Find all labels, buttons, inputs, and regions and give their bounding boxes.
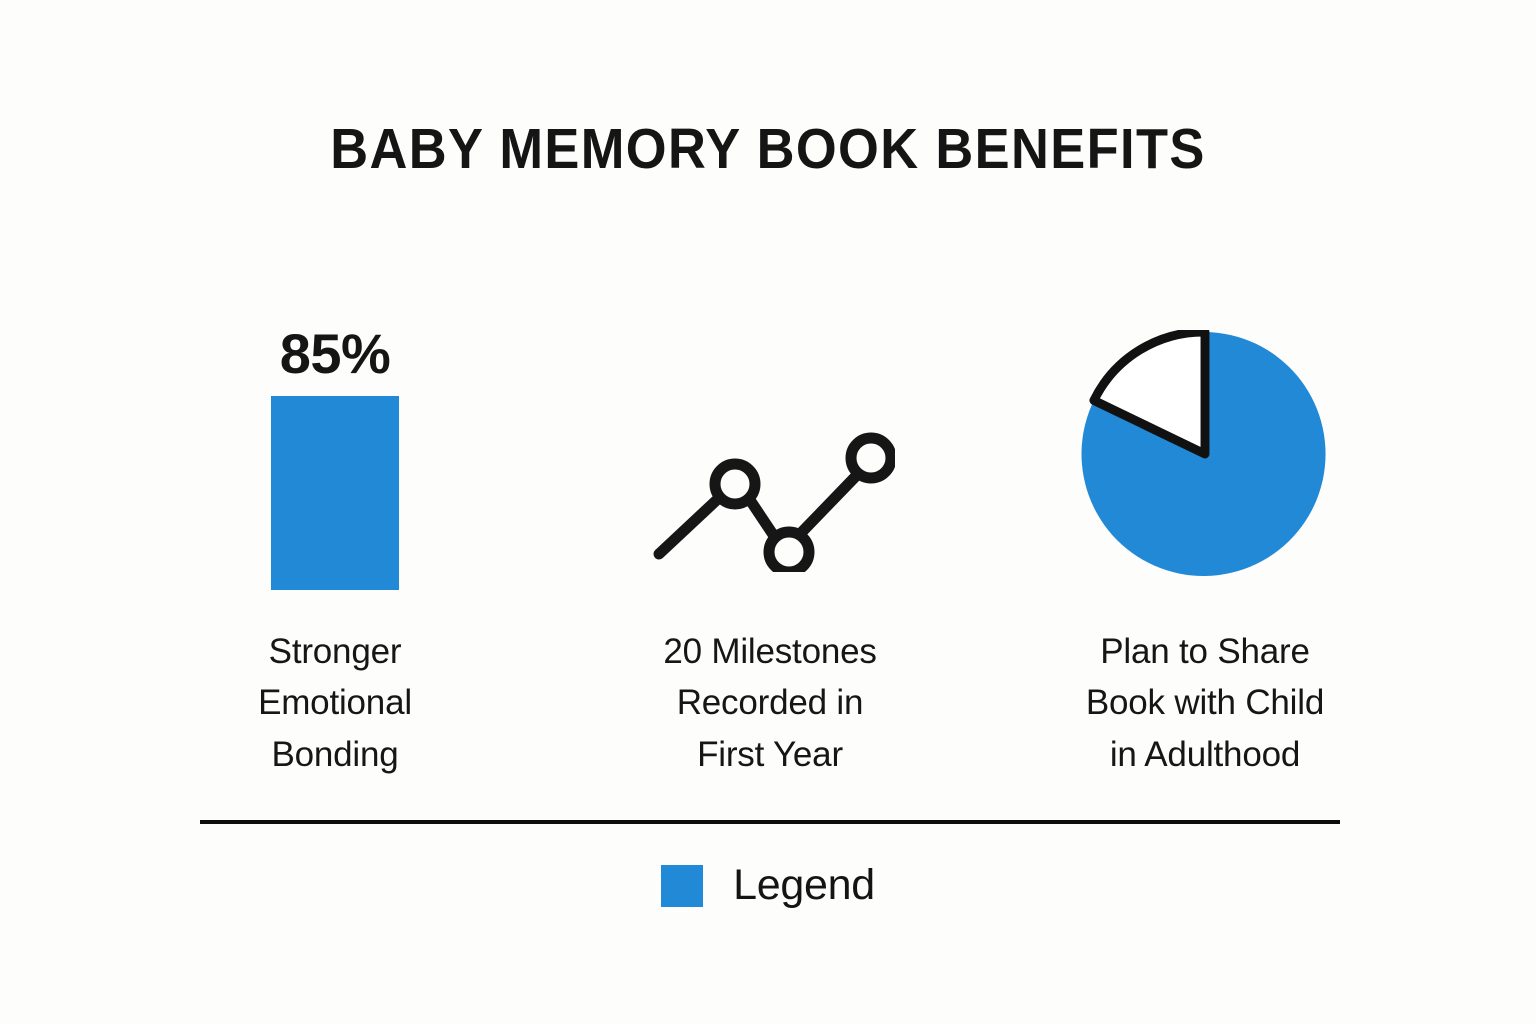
stat-caption-milestones: 20 Milestones Recorded in First Year (663, 626, 876, 780)
bar-chart-icon (271, 396, 399, 590)
stat-caption-share: Plan to Share Book with Child in Adultho… (1086, 626, 1324, 780)
caption-line: 20 Milestones (663, 626, 876, 677)
line-marker-point (715, 464, 755, 504)
infographic-canvas: BABY MEMORY BOOK BENEFITS 85% Stronger E… (0, 0, 1536, 1024)
caption-line: in Adulthood (1086, 729, 1324, 780)
stat-column-share: Plan to Share Book with Child in Adultho… (1020, 290, 1390, 780)
legend-label: Legend (733, 864, 875, 907)
caption-line: Bonding (258, 729, 412, 780)
bar-value-label: 85% (280, 326, 391, 382)
bar-chart-graphic: 85% (150, 290, 520, 590)
caption-line: First Year (663, 729, 876, 780)
pie-chart-icon (1081, 330, 1329, 578)
caption-line: Plan to Share (1086, 626, 1324, 677)
line-chart-icon (645, 422, 895, 572)
chart-legend: Legend (0, 864, 1536, 907)
stat-caption-bonding: Stronger Emotional Bonding (258, 626, 412, 780)
section-divider (200, 820, 1340, 824)
caption-line: Book with Child (1086, 677, 1324, 728)
pie-chart-graphic (1020, 290, 1390, 590)
caption-line: Emotional (258, 677, 412, 728)
page-title: BABY MEMORY BOOK BENEFITS (61, 118, 1474, 182)
legend-color-swatch (661, 865, 703, 907)
stat-columns: 85% Stronger Emotional Bonding (150, 290, 1390, 770)
caption-line: Recorded in (663, 677, 876, 728)
line-marker-point (769, 532, 809, 572)
stat-column-milestones: 20 Milestones Recorded in First Year (585, 290, 955, 780)
line-chart-graphic (585, 290, 955, 590)
stat-column-bonding: 85% Stronger Emotional Bonding (150, 290, 520, 780)
caption-line: Stronger (258, 626, 412, 677)
line-marker-point (851, 438, 891, 478)
